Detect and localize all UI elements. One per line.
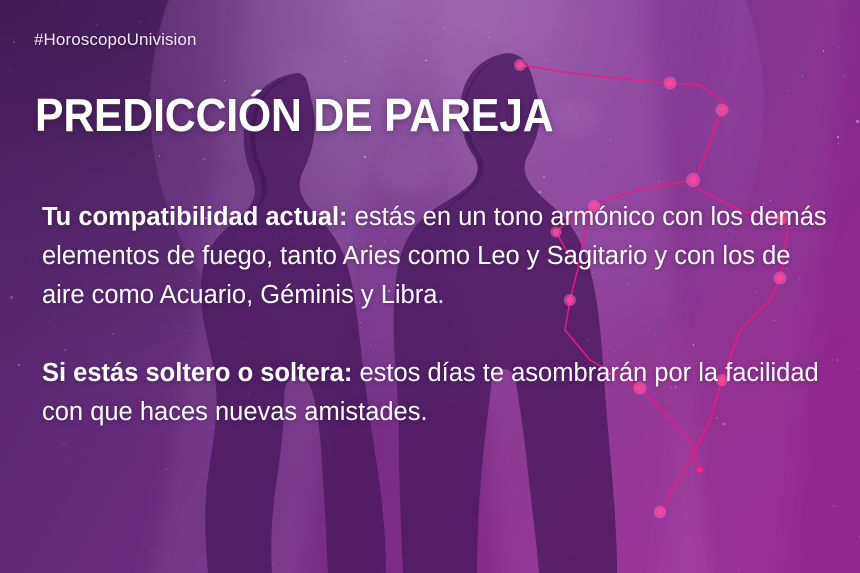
paragraph-single: Si estás soltero o soltera: estos días t… bbox=[42, 354, 832, 432]
hashtag-label: #HoroscopoUnivision bbox=[34, 30, 197, 50]
horoscope-card: #HoroscopoUnivision PREDICCIÓN DE PAREJA… bbox=[0, 0, 860, 573]
paragraph-lead: Tu compatibilidad actual: bbox=[42, 203, 348, 231]
paragraph-lead: Si estás soltero o soltera: bbox=[42, 359, 352, 387]
page-title: PREDICCIÓN DE PAREJA bbox=[35, 90, 553, 140]
paragraph-compatibility: Tu compatibilidad actual: estás en un to… bbox=[42, 198, 832, 315]
body-copy: Tu compatibilidad actual: estás en un to… bbox=[42, 198, 832, 432]
